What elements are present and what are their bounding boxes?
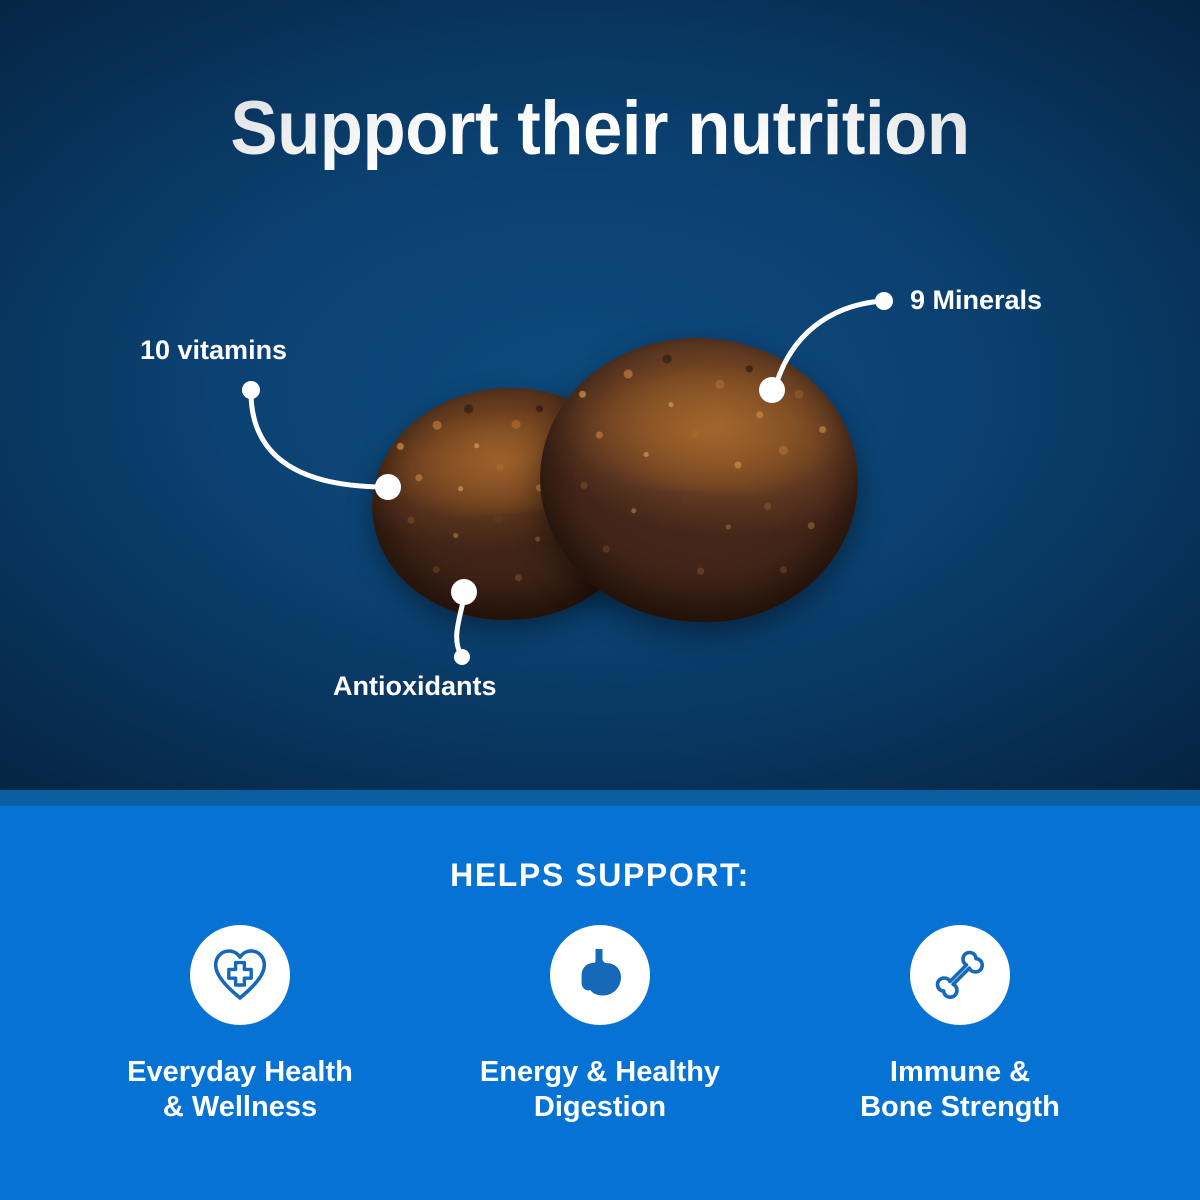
hero-panel: Support their nutrition <box>0 0 1200 790</box>
benefit-label: Immune & Bone Strength <box>860 1055 1060 1125</box>
product-benefits-infographic: Support their nutrition <box>0 0 1200 1200</box>
benefit-icon-circle <box>190 925 290 1025</box>
callout-label-minerals: 9 Minerals <box>910 284 1042 316</box>
callout-label-vitamins: 10 vitamins <box>140 334 287 366</box>
benefit-icon-circle <box>550 925 650 1025</box>
benefit-icon-circle <box>910 925 1010 1025</box>
treat-front <box>533 330 865 630</box>
product-image <box>0 0 1200 790</box>
benefit-item-everyday-health[interactable]: Everyday Health & Wellness <box>60 925 420 1125</box>
heart-cross-icon <box>208 943 272 1007</box>
benefits-list: Everyday Health & Wellness Energy & Heal… <box>0 925 1200 1125</box>
benefit-item-energy-digestion[interactable]: Energy & Healthy Digestion <box>420 925 780 1125</box>
band-divider-strip <box>0 790 1200 806</box>
stomach-icon <box>568 943 632 1007</box>
benefit-label: Energy & Healthy Digestion <box>480 1055 720 1125</box>
benefits-heading: HELPS SUPPORT: <box>0 856 1200 894</box>
benefit-label: Everyday Health & Wellness <box>127 1055 353 1125</box>
bone-icon <box>928 943 992 1007</box>
benefit-item-immune-bone[interactable]: Immune & Bone Strength <box>780 925 1140 1125</box>
callout-label-antioxidants: Antioxidants <box>333 670 497 702</box>
